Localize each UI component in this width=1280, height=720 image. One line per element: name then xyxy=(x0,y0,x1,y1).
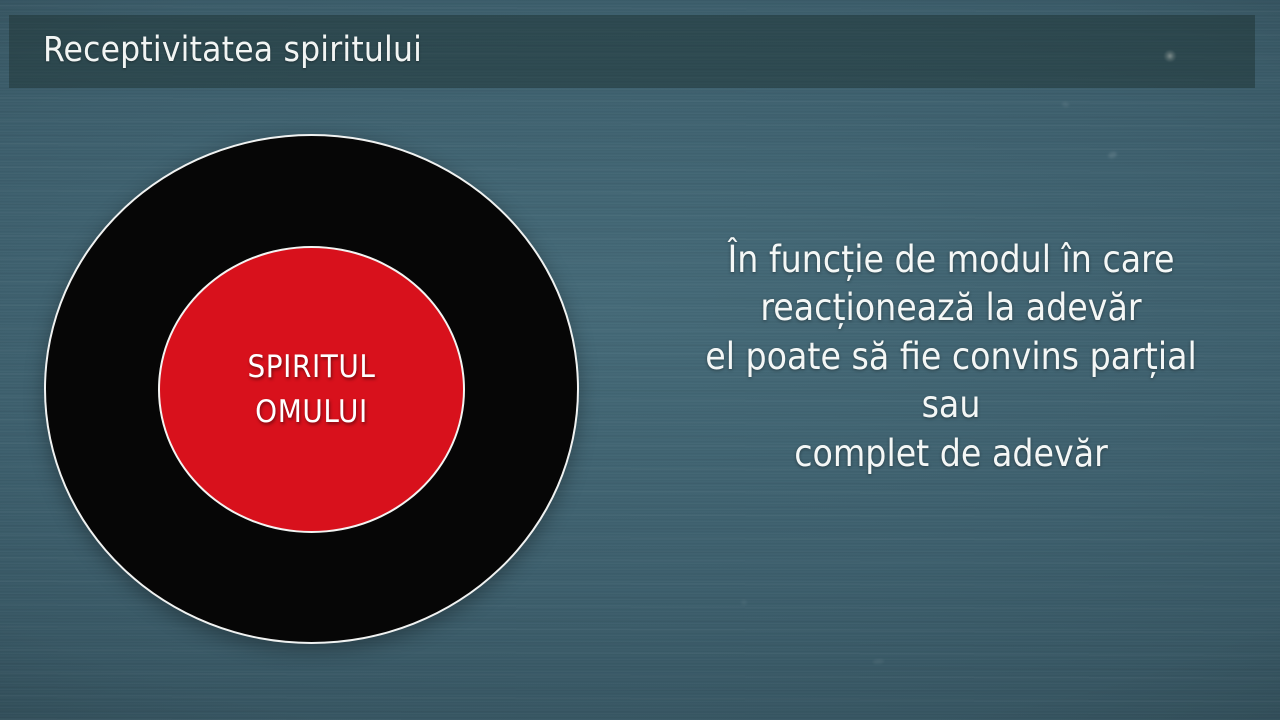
slide-canvas: Receptivitatea spiritului SPIRITUL OMULU… xyxy=(0,0,1280,720)
inner-circle: SPIRITUL OMULUI xyxy=(158,246,465,533)
body-text-line-3: el poate să fie convins parțial xyxy=(660,333,1242,381)
inner-circle-label-line-2: OMULUI xyxy=(255,390,368,434)
body-text-line-4: sau xyxy=(660,381,1242,429)
body-text-line-1: În funcție de modul în care xyxy=(660,236,1242,284)
body-text-line-5: complet de adevăr xyxy=(660,430,1242,478)
body-text-line-2: reacționează la adevăr xyxy=(660,284,1242,332)
background-scuff-mark xyxy=(741,600,747,605)
concentric-circle-diagram: SPIRITUL OMULUI xyxy=(0,0,640,720)
inner-circle-label-line-1: SPIRITUL xyxy=(247,345,375,389)
body-text-block: În funcție de modul în care reacționează… xyxy=(660,236,1242,478)
